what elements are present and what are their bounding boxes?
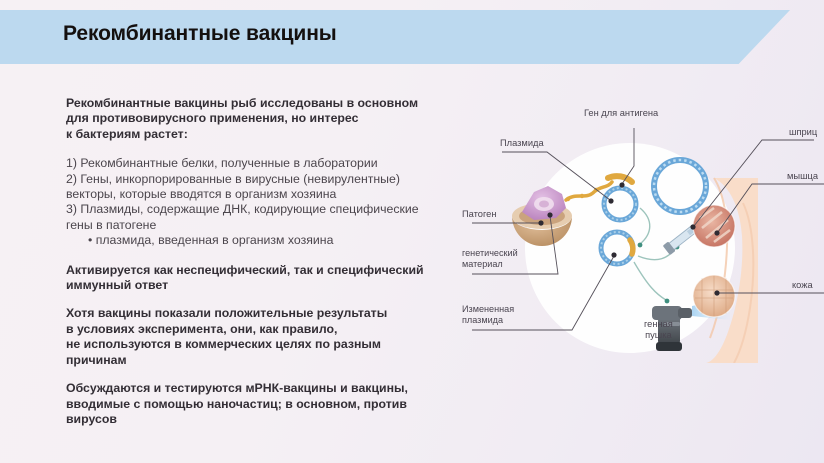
- commercial-use-paragraph: Хотя вакцины показали положительные резу…: [66, 306, 466, 368]
- content-text-column: Рекомбинантные вакцины рыб исследованы в…: [66, 96, 466, 427]
- intro-paragraph: Рекомбинантные вакцины рыб исследованы в…: [66, 96, 466, 142]
- spacer: [66, 293, 466, 306]
- skin-inset-shape: [693, 275, 735, 317]
- numbered-list: 1) Рекомбинантные белки, полученные в ла…: [66, 156, 466, 233]
- spacer: [66, 368, 466, 381]
- label-syringe: шприц: [789, 127, 817, 138]
- label-gene-for-antigen: Ген для антигена: [584, 108, 658, 119]
- immune-response-paragraph: Активируется как неспецифический, так и …: [66, 263, 466, 294]
- spacer: [66, 142, 466, 156]
- page-title: Рекомбинантные вакцины: [63, 22, 337, 46]
- sub-bullet-item: • плазмида, введенная в организм хозяина: [88, 233, 466, 248]
- slide-canvas: Рекомбинантные вакцины Рекомбинантные ва…: [0, 0, 824, 463]
- label-muscle: мышца: [787, 171, 818, 182]
- label-plasmid: Плазмида: [500, 138, 544, 149]
- mrna-vaccines-paragraph: Обсуждаются и тестируются мРНК-вакцины и…: [66, 381, 466, 427]
- muscle-inset-shape: [693, 205, 735, 247]
- vaccine-production-diagram: Ген для антигена Плазмида Патоген генети…: [462, 108, 824, 363]
- spacer: [66, 249, 466, 263]
- label-modified-plasmid: Измененная плазмида: [462, 304, 514, 326]
- label-gene-gun: генная пушка: [644, 319, 673, 341]
- label-genetic-material: генетический материал: [462, 248, 518, 270]
- label-pathogen: Патоген: [462, 209, 496, 220]
- label-skin: кожа: [792, 280, 813, 291]
